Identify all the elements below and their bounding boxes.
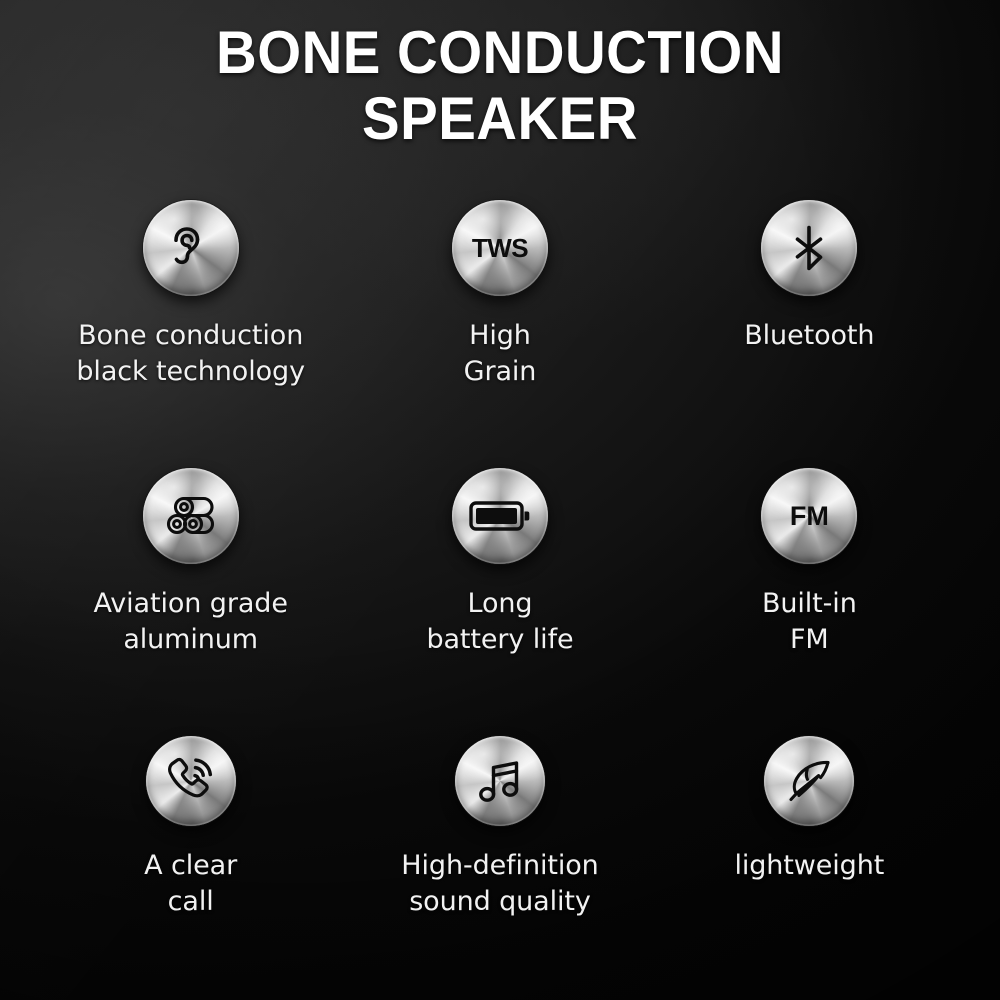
caption-line: Grain xyxy=(464,354,537,390)
fm-icon: FM xyxy=(790,503,829,530)
ear-icon xyxy=(163,220,219,276)
feature-caption-aviation-aluminum: Aviation grade aluminum xyxy=(93,586,287,657)
caption-line: Aviation grade xyxy=(93,586,287,622)
feature-caption-built-in-fm: Built-in FM xyxy=(762,586,857,657)
feature-caption-sound-quality: High-definition sound quality xyxy=(401,848,598,919)
icon-disc-bluetooth xyxy=(761,200,857,296)
feature-caption-bluetooth: Bluetooth xyxy=(744,318,874,354)
feature-item-bluetooth: Bluetooth xyxy=(655,180,964,450)
feature-item-clear-call: A clear call xyxy=(36,720,345,990)
icon-disc-sound-quality xyxy=(455,736,545,826)
title-line-1: BONE CONDUCTION xyxy=(86,20,913,86)
feature-item-lightweight: lightweight xyxy=(655,720,964,990)
icon-disc-aviation-aluminum xyxy=(143,468,239,564)
poster-title: BONE CONDUCTION SPEAKER xyxy=(0,20,1000,152)
caption-line: High xyxy=(464,318,537,354)
caption-line: High-definition xyxy=(401,848,598,884)
feature-item-battery-life: Long battery life xyxy=(345,450,654,720)
battery-full-icon xyxy=(469,488,531,544)
caption-line: Built-in xyxy=(762,586,857,622)
feature-caption-lightweight: lightweight xyxy=(734,848,884,884)
feature-item-bone-conduction: Bone conduction black technology xyxy=(36,180,345,450)
feature-caption-high-grain: High Grain xyxy=(464,318,537,389)
feature-item-high-grain: TWS High Grain xyxy=(345,180,654,450)
caption-line: FM xyxy=(762,622,857,658)
feature-item-built-in-fm: FM Built-in FM xyxy=(655,450,964,720)
product-feature-poster: BONE CONDUCTION SPEAKER xyxy=(0,0,1000,1000)
caption-line: sound quality xyxy=(401,884,598,920)
caption-line: aluminum xyxy=(93,622,287,658)
caption-line: Bluetooth xyxy=(744,318,874,354)
caption-line: Bone conduction xyxy=(76,318,305,354)
feather-icon xyxy=(781,753,837,809)
feature-caption-clear-call: A clear call xyxy=(144,848,237,919)
caption-line: A clear xyxy=(144,848,237,884)
icon-disc-lightweight xyxy=(764,736,854,826)
bluetooth-icon xyxy=(781,220,837,276)
icon-disc-battery-life xyxy=(452,468,548,564)
caption-line: call xyxy=(144,884,237,920)
aluminum-tubes-icon xyxy=(163,488,219,544)
icon-disc-high-grain: TWS xyxy=(452,200,548,296)
caption-line: battery life xyxy=(426,622,573,658)
icon-disc-built-in-fm: FM xyxy=(761,468,857,564)
feature-caption-bone-conduction: Bone conduction black technology xyxy=(76,318,305,389)
title-line-2: SPEAKER xyxy=(86,86,913,152)
tws-icon: TWS xyxy=(472,235,528,261)
feature-grid: Bone conduction black technology TWS Hig… xyxy=(0,152,1000,1000)
music-note-icon xyxy=(472,753,528,809)
feature-caption-battery-life: Long battery life xyxy=(426,586,573,657)
caption-line: black technology xyxy=(76,354,305,390)
phone-call-icon xyxy=(163,753,219,809)
caption-line: lightweight xyxy=(734,848,884,884)
icon-disc-bone-conduction xyxy=(143,200,239,296)
icon-disc-clear-call xyxy=(146,736,236,826)
caption-line: Long xyxy=(426,586,573,622)
feature-item-aviation-aluminum: Aviation grade aluminum xyxy=(36,450,345,720)
feature-item-sound-quality: High-definition sound quality xyxy=(345,720,654,990)
